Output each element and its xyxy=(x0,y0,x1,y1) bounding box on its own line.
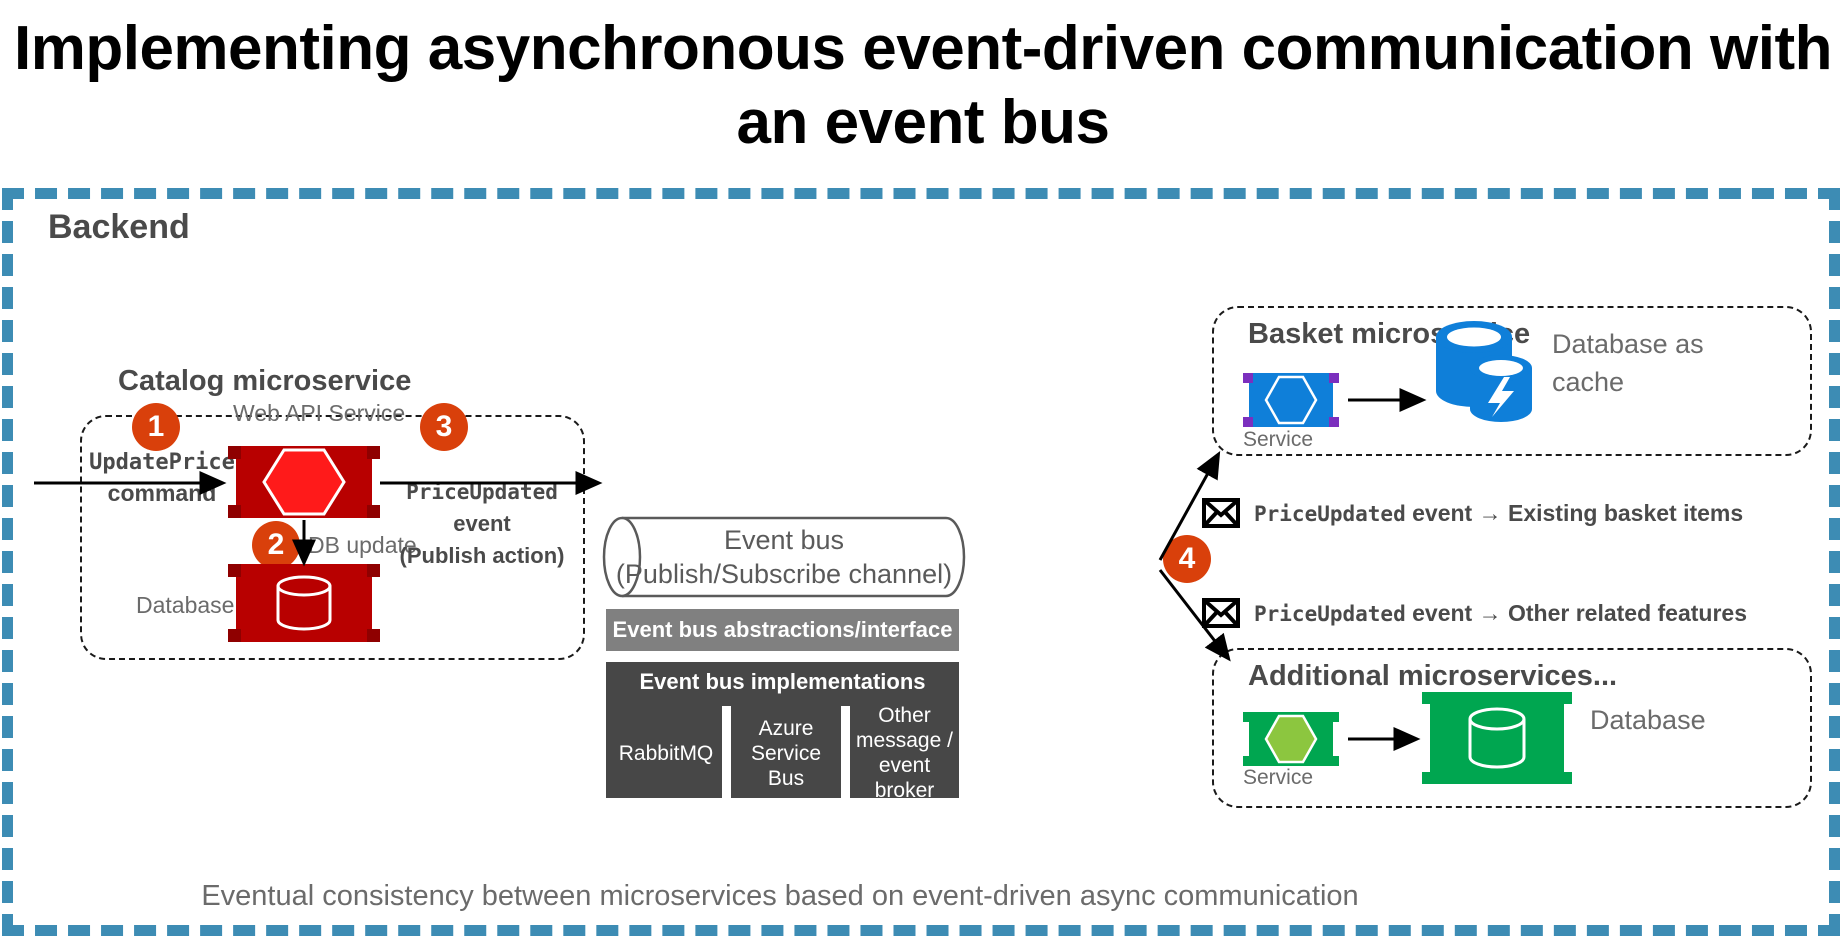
message-1-rest: event → Other related features xyxy=(1406,600,1747,626)
message-0-rest: event → Existing basket items xyxy=(1406,500,1743,526)
step-badge-2: 2 xyxy=(252,521,300,569)
implementation-rabbitmq: RabbitMQ xyxy=(610,708,722,798)
diagram-caption: Eventual consistency between microservic… xyxy=(0,880,1560,913)
implementation-azure-service-bus: Azure Service Bus xyxy=(731,708,841,798)
additional-service-label: Service xyxy=(1243,766,1313,790)
database-as-cache-label: Database as cache xyxy=(1552,325,1782,401)
backend-label: Backend xyxy=(48,208,190,247)
web-api-service-label: Web API Service xyxy=(233,400,405,427)
additional-database-icon xyxy=(1422,692,1572,784)
message-row-existing-basket-items: PriceUpdated event → Existing basket ite… xyxy=(1202,498,1743,528)
message-row-other-related-features: PriceUpdated event → Other related featu… xyxy=(1202,598,1747,628)
catalog-database-label: Database xyxy=(136,592,234,619)
event-bus-implementations-box: Event bus implementations RabbitMQ Azure… xyxy=(606,662,959,798)
additional-service-icon xyxy=(1243,712,1339,766)
publish-event-rest: event xyxy=(453,511,510,536)
update-price-command-line2: command xyxy=(108,480,217,506)
implementation-other-broker: Other message / event broker xyxy=(850,708,959,798)
event-bus-label: Event bus (Publish/Subscribe channel) xyxy=(600,516,968,598)
publish-action-label: (Publish action) xyxy=(400,543,565,568)
page-title: Implementing asynchronous event-driven c… xyxy=(0,12,1846,160)
message-text-other-related-features: PriceUpdated event → Other related featu… xyxy=(1254,600,1747,627)
message-1-mono: PriceUpdated xyxy=(1254,602,1406,626)
step-badge-1: 1 xyxy=(132,403,180,451)
event-bus-implementations-title: Event bus implementations xyxy=(606,669,959,695)
additional-database-label: Database xyxy=(1590,705,1706,736)
additional-microservices-title: Additional microservices... xyxy=(1248,660,1617,693)
event-bus-line1: Event bus xyxy=(724,523,844,557)
step-badge-3: 3 xyxy=(420,403,468,451)
event-bus-line2: (Publish/Subscribe channel) xyxy=(616,557,952,591)
message-text-existing-basket-items: PriceUpdated event → Existing basket ite… xyxy=(1254,500,1743,527)
publish-event-mono: PriceUpdated xyxy=(406,480,558,504)
database-as-cache-icon xyxy=(1430,315,1540,420)
envelope-icon xyxy=(1202,598,1240,628)
step-badge-4: 4 xyxy=(1163,535,1211,583)
basket-service-icon xyxy=(1243,373,1339,427)
catalog-microservice-title: Catalog microservice xyxy=(118,365,411,398)
message-0-mono: PriceUpdated xyxy=(1254,502,1406,526)
web-api-service-icon xyxy=(228,446,380,518)
envelope-icon xyxy=(1202,498,1240,528)
event-bus-cylinder: Event bus (Publish/Subscribe channel) xyxy=(600,516,968,598)
basket-service-label: Service xyxy=(1243,428,1313,452)
update-price-command-label: UpdatePrice command xyxy=(82,448,242,511)
event-bus-abstractions-bar: Event bus abstractions/interface xyxy=(606,609,959,651)
update-price-command-line1: UpdatePrice xyxy=(89,450,235,475)
price-updated-publish-label: PriceUpdated event (Publish action) xyxy=(382,477,582,573)
catalog-database-icon xyxy=(228,564,380,642)
